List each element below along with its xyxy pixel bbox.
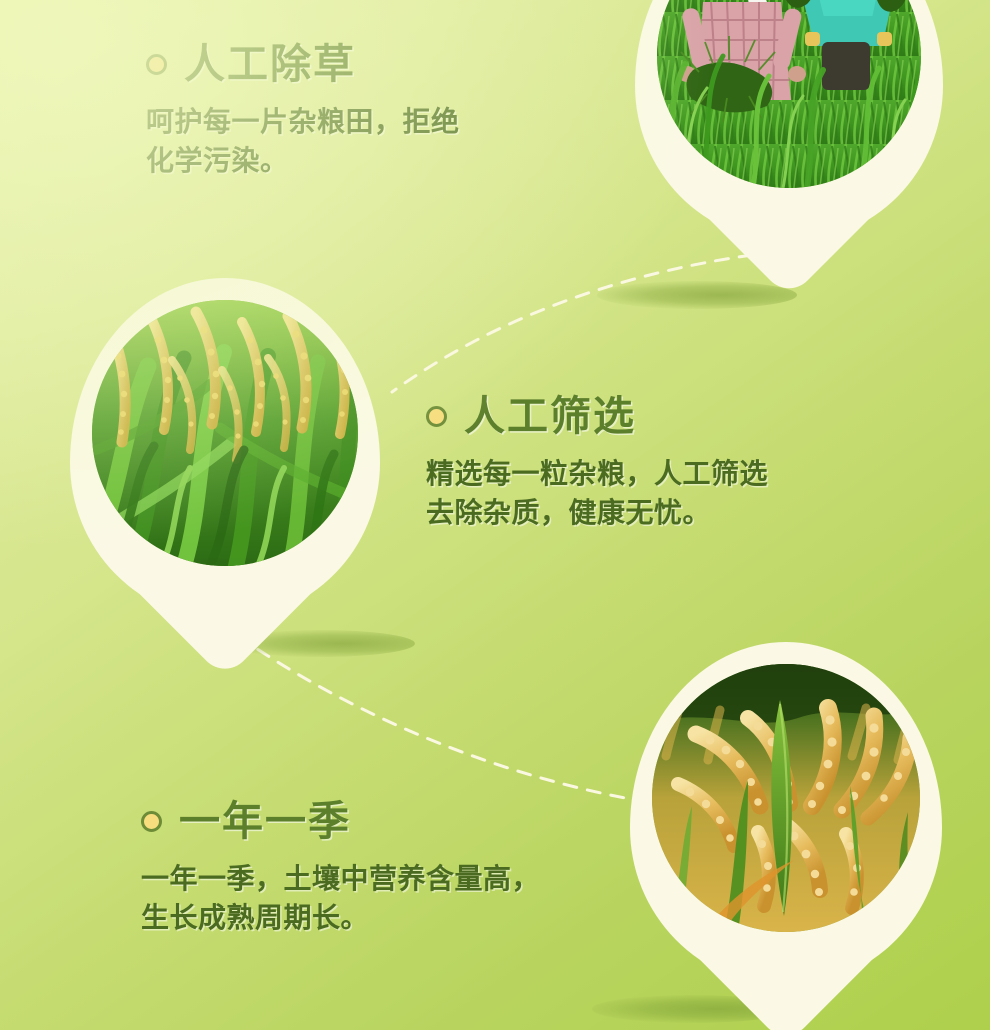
feature-pin-manual-screening[interactable] bbox=[70, 278, 380, 620]
feature-description-line: 呵护每一片杂粮田，拒绝 bbox=[146, 103, 460, 142]
feature-description: 一年一季，土壤中营养含量高， 生长成熟周期长。 bbox=[141, 860, 540, 937]
feature-description-line: 一年一季，土壤中营养含量高， bbox=[141, 860, 540, 899]
feature-description-line: 精选每一粒杂粮，人工筛选 bbox=[426, 455, 768, 494]
feature-heading: 一年一季 bbox=[141, 799, 540, 844]
feature-heading: 人工筛选 bbox=[426, 394, 768, 439]
pin-drop-shadow-1 bbox=[597, 281, 797, 309]
golden-ripe-rice-photo bbox=[652, 664, 920, 932]
feature-description-line: 生长成熟周期长。 bbox=[141, 899, 540, 938]
feature-description-line: 化学污染。 bbox=[146, 142, 460, 181]
feature-pin-one-harvest-per-year[interactable] bbox=[630, 642, 942, 986]
feature-pin-manual-weeding[interactable] bbox=[635, 0, 943, 242]
circle-bullet-icon bbox=[426, 406, 447, 427]
feature-description: 呵护每一片杂粮田，拒绝 化学污染。 bbox=[146, 103, 460, 180]
feature-title: 人工筛选 bbox=[464, 394, 636, 439]
green-grain-heads-photo bbox=[92, 300, 358, 566]
infographic-canvas: 人工除草 呵护每一片杂粮田，拒绝 化学污染。 人工筛选 精选每一粒杂粮，人工筛选… bbox=[0, 0, 990, 1030]
feature-text-one-harvest-per-year: 一年一季 一年一季，土壤中营养含量高， 生长成熟周期长。 bbox=[141, 799, 540, 937]
feature-title: 人工除草 bbox=[184, 42, 356, 87]
feature-title: 一年一季 bbox=[179, 799, 351, 844]
feature-heading: 人工除草 bbox=[146, 42, 460, 87]
feature-description: 精选每一粒杂粮，人工筛选 去除杂质，健康无忧。 bbox=[426, 455, 768, 532]
feature-text-manual-weeding: 人工除草 呵护每一片杂粮田，拒绝 化学污染。 bbox=[146, 42, 460, 180]
circle-bullet-icon bbox=[146, 54, 167, 75]
connector-curve-1 bbox=[392, 255, 752, 392]
feature-text-manual-screening: 人工筛选 精选每一粒杂粮，人工筛选 去除杂质，健康无忧。 bbox=[426, 394, 768, 532]
circle-bullet-icon bbox=[141, 811, 162, 832]
feature-description-line: 去除杂质，健康无忧。 bbox=[426, 494, 768, 533]
connector-curve-2 bbox=[238, 636, 636, 800]
